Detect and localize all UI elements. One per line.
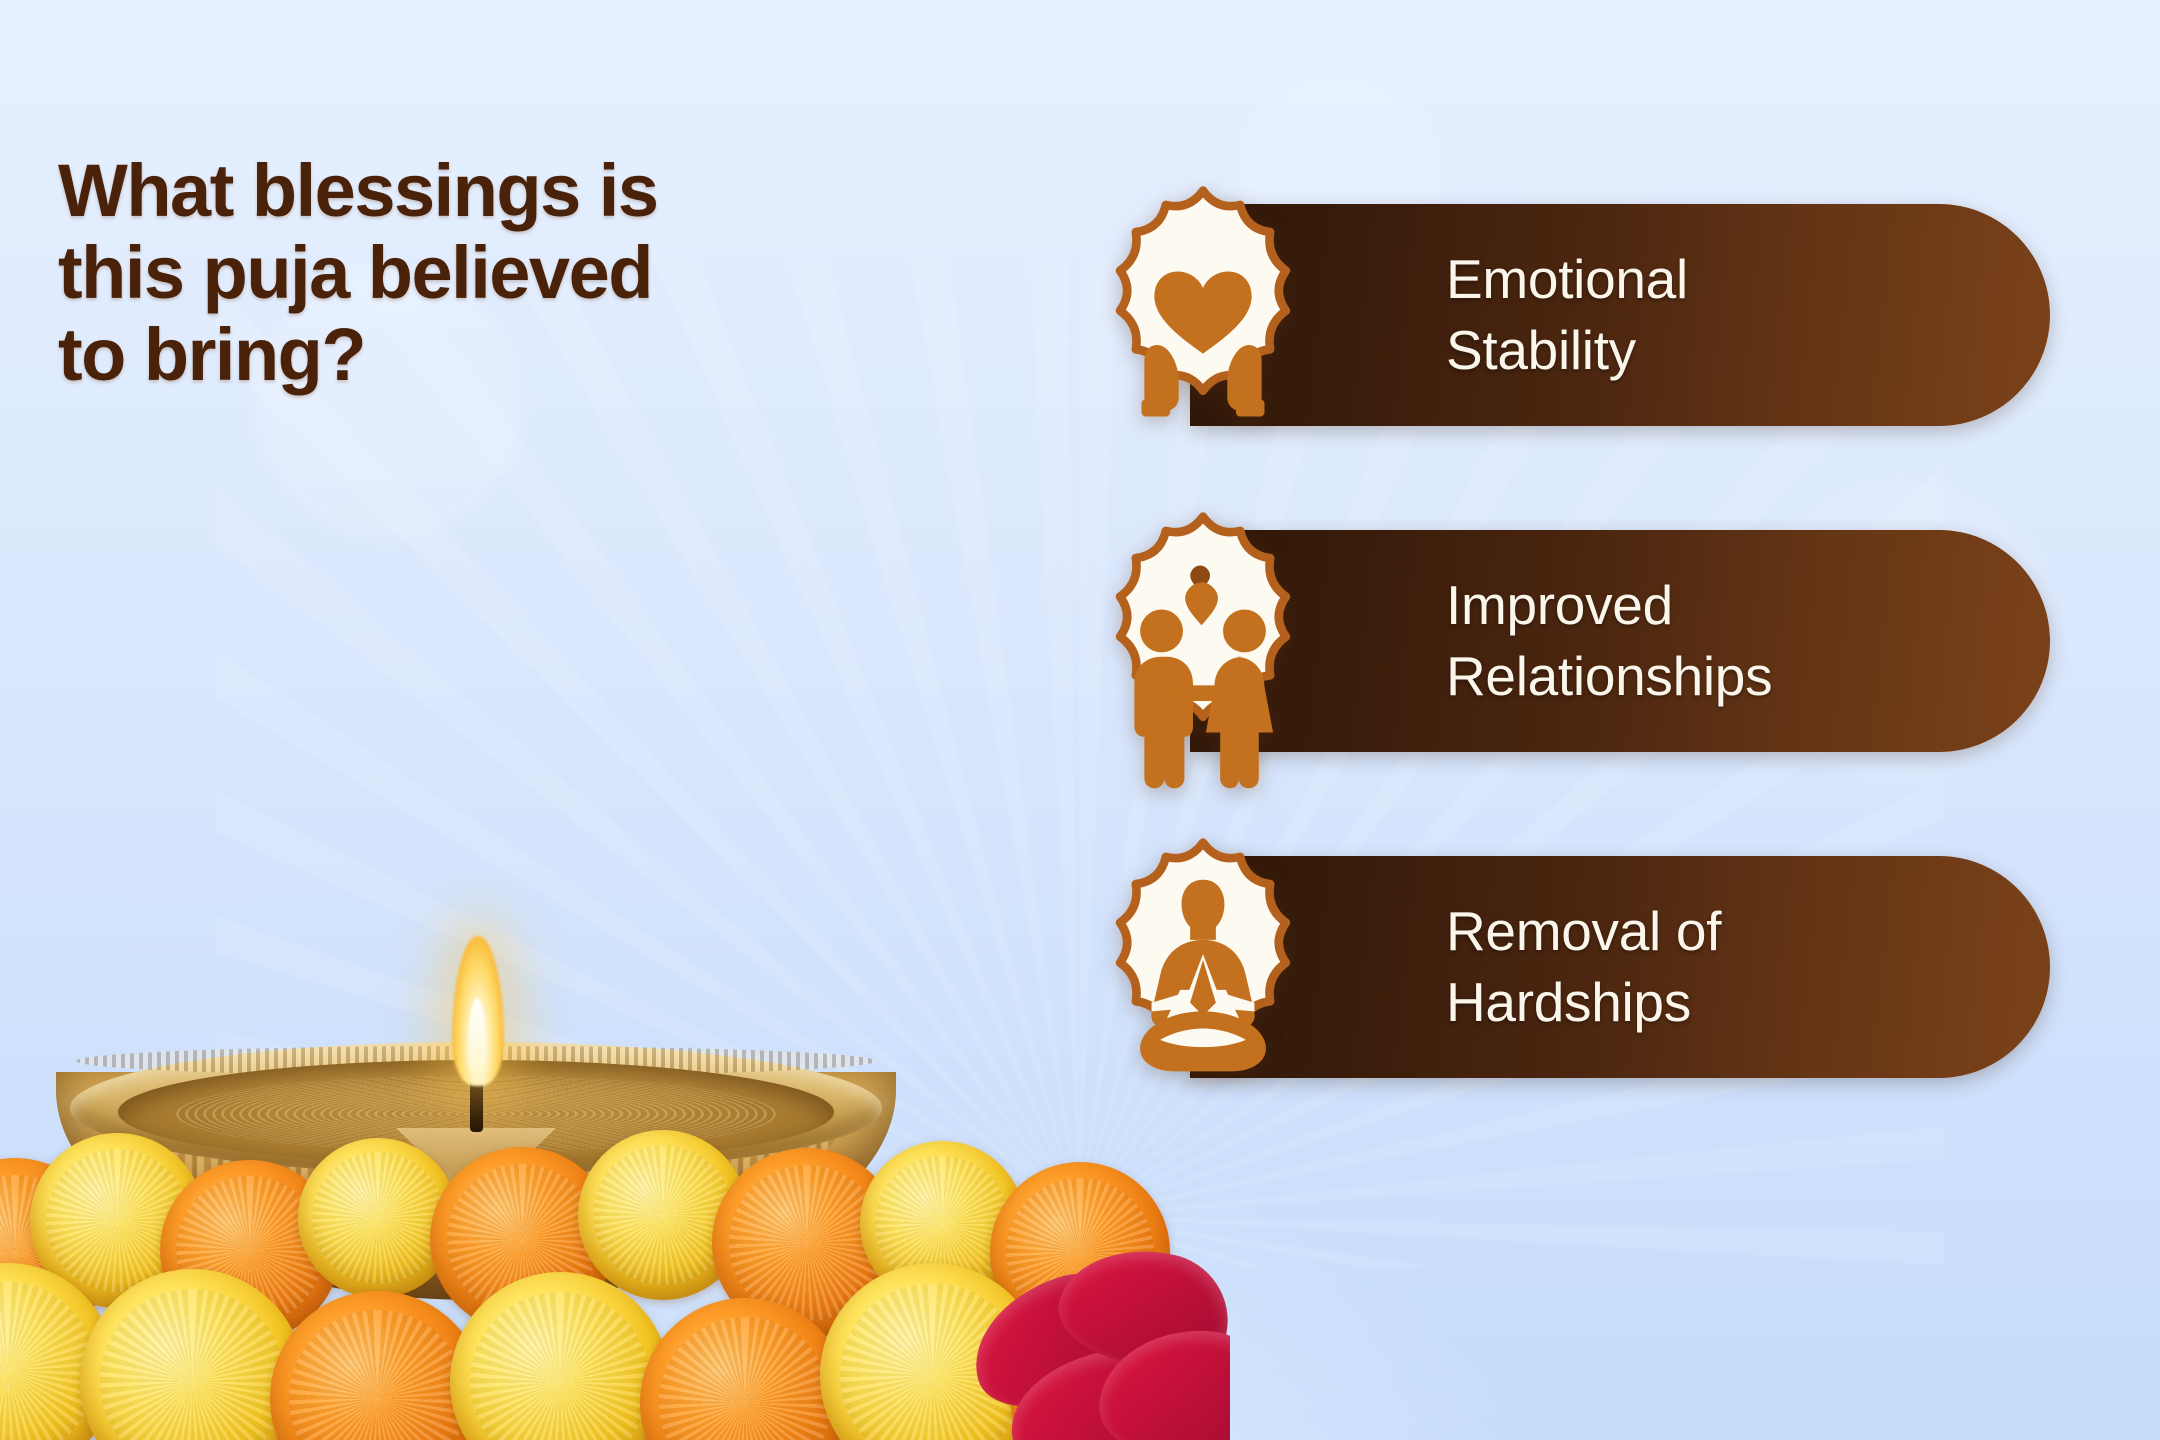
benefit-label-2: Improved Relationships bbox=[1446, 570, 1772, 713]
benefit-label-3-line-2: Hardships bbox=[1446, 967, 1721, 1039]
list-item[interactable]: Improved Relationships bbox=[1060, 508, 2100, 772]
heart-in-hands-icon bbox=[1060, 182, 1346, 468]
list-item[interactable]: Removal of Hardships bbox=[1060, 834, 2100, 1098]
page-title: What blessings is this puja believed to … bbox=[58, 150, 818, 396]
meditating-person-icon bbox=[1060, 834, 1346, 1120]
page-title-line-3: to bring? bbox=[58, 314, 818, 396]
benefit-label-1: Emotional Stability bbox=[1446, 244, 1688, 387]
diya-photo bbox=[0, 800, 1230, 1440]
page-title-line-1: What blessings is bbox=[58, 150, 818, 232]
benefit-label-2-line-2: Relationships bbox=[1446, 641, 1772, 713]
benefit-label-2-line-1: Improved bbox=[1446, 570, 1772, 642]
couple-holding-hands-icon bbox=[1060, 508, 1346, 794]
benefit-label-3-line-1: Removal of bbox=[1446, 896, 1721, 968]
list-item[interactable]: Emotional Stability bbox=[1060, 182, 2100, 446]
benefit-label-1-line-2: Stability bbox=[1446, 315, 1688, 387]
red-flower bbox=[960, 1240, 1230, 1440]
infographic-canvas: What blessings is this puja believed to … bbox=[0, 0, 2160, 1440]
benefit-label-1-line-1: Emotional bbox=[1446, 244, 1688, 316]
page-title-line-2: this puja believed bbox=[58, 232, 818, 314]
benefits-list: Emotional Stability Improved bbox=[1060, 182, 2100, 1160]
benefit-label-3: Removal of Hardships bbox=[1446, 896, 1721, 1039]
